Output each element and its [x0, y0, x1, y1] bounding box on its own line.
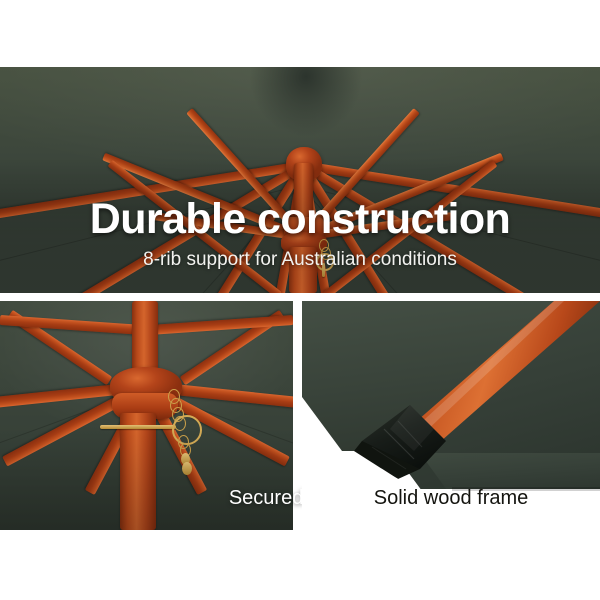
subheadline: 8-rib support for Australian conditions — [0, 250, 600, 269]
umbrella-mast — [120, 413, 156, 530]
headline: Durable construction — [0, 198, 600, 241]
locking-pin-icon — [100, 425, 176, 429]
product-feature-image: Durable construction 8-rib support for A… — [0, 0, 600, 600]
chain-link-icon — [182, 462, 192, 475]
caption-solid-wood-frame: Solid wood frame — [302, 488, 600, 508]
